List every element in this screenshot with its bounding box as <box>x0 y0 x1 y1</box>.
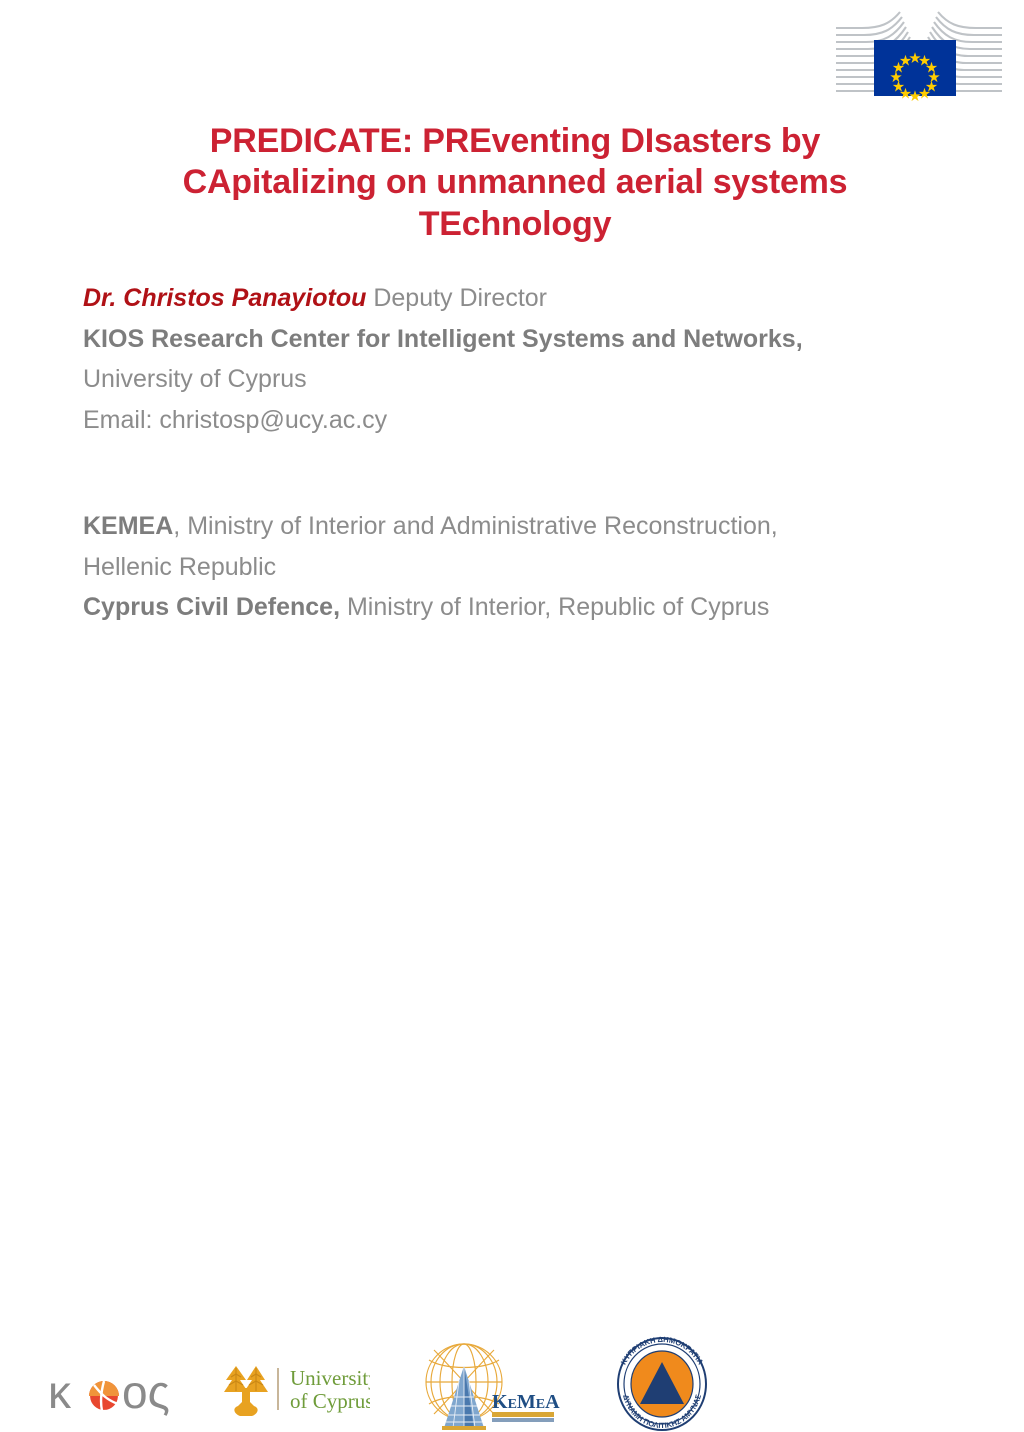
ucy-wordmark-line1: University <box>290 1366 370 1390</box>
kemea-wordmark: KEMEA <box>492 1391 560 1413</box>
partners-block: KEMEA, Ministry of Interior and Administ… <box>83 506 983 628</box>
eu-flag-icon <box>874 40 956 101</box>
ucy-tree-icon <box>224 1366 268 1416</box>
author-name-line: Dr. Christos Panayiotou Deputy Director <box>83 278 983 319</box>
partner-kemea-name: KEMEA <box>83 512 173 540</box>
title-line-3: TEchnology <box>419 205 612 243</box>
partner-kemea-detail: , Ministry of Interior and Administrativ… <box>173 512 777 540</box>
partner-ccd-name: Cyprus Civil Defence, <box>83 593 340 621</box>
partner-ccd-detail: Ministry of Interior, Republic of Cyprus <box>340 593 769 621</box>
kemea-logo: KEMEA <box>408 1336 560 1432</box>
partner-logo-strip: κ ῅ος <box>0 664 1024 768</box>
author-block: Dr. Christos Panayiotou Deputy Director … <box>83 278 983 440</box>
author-role: Deputy Director <box>366 284 547 312</box>
svg-text:῅ος: ῅ος <box>122 1366 170 1418</box>
author-name: Dr. Christos Panayiotou <box>83 284 366 312</box>
european-commission-emblem <box>818 4 1018 108</box>
kios-sphere-icon <box>89 1381 119 1411</box>
author-university: University of Cyprus <box>83 359 983 400</box>
author-email: Email: christosp@ucy.ac.cy <box>83 400 983 441</box>
svg-text:κ: κ <box>48 1366 72 1418</box>
partner-kemea-line2: Hellenic Republic <box>83 547 983 588</box>
cyprus-civil-defence-logo: ΚΥΠΡΙΑΚΗ ΔΗΜΟΚΡΑΤΙΑ ΔΥΝΑΜΗ ΠΟΛΙΤΙΚΗΣ ΑΜΥ… <box>602 1336 722 1432</box>
kios-research-center-logo: κ ῅ος <box>48 1364 208 1420</box>
ucy-wordmark-line2: of Cyprus <box>290 1389 370 1413</box>
slide-title: PREDICATE: PREventing DIsasters by CApit… <box>110 121 920 245</box>
partner-ccd-line: Cyprus Civil Defence, Ministry of Interi… <box>83 587 983 628</box>
title-line-2: CApitalizing on unmanned aerial systems <box>183 163 848 201</box>
title-line-1: PREDICATE: PREventing DIsasters by <box>210 122 820 160</box>
partner-kemea-line: KEMEA, Ministry of Interior and Administ… <box>83 506 983 547</box>
author-affiliation: KIOS Research Center for Intelligent Sys… <box>83 319 983 360</box>
university-of-cyprus-logo: University of Cyprus <box>212 1358 370 1420</box>
